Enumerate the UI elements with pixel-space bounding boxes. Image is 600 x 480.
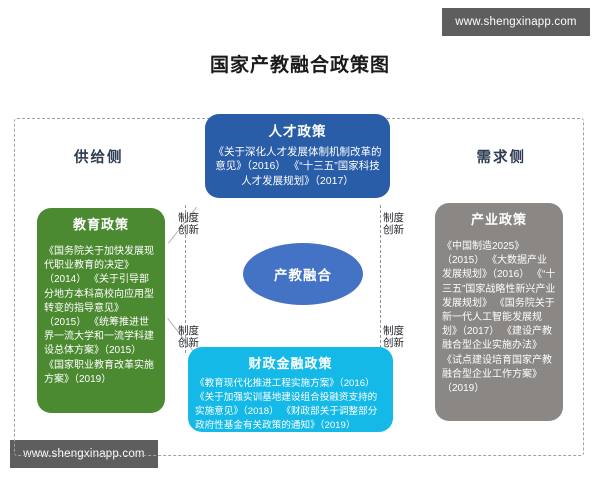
- watermark-top-right: www.shengxinapp.com: [442, 8, 590, 36]
- policy-box-finance-title: 财政金融政策: [195, 353, 386, 372]
- innovation-label-line2: 创新: [178, 224, 199, 236]
- policy-box-talent-title: 人才政策: [212, 120, 383, 140]
- supply-side-label: 供给侧: [74, 146, 124, 167]
- policy-box-education[interactable]: 教育政策 《国务院关于加快发展现代职业教育的决定》（2014） 《关于引导部分地…: [37, 208, 165, 413]
- innovation-label-top-right: 制度 创新: [383, 212, 404, 237]
- policy-box-industry-title: 产业政策: [442, 209, 556, 228]
- policy-box-finance[interactable]: 财政金融政策 《教育现代化推进工程实施方案》（2016） 《关于加强实训基地建设…: [188, 347, 393, 432]
- policy-item: 《国家职业教育改革实施方案》（2019）: [44, 360, 154, 385]
- innovation-label-line2: 创新: [178, 337, 199, 349]
- innovation-label-line1: 制度: [383, 325, 404, 337]
- page-title: 国家产教融合政策图: [0, 50, 600, 77]
- innovation-label-top-left: 制度 创新: [178, 212, 199, 237]
- policy-box-talent[interactable]: 人才政策 《关于深化人才发展体制机制改革的意见》（2016） 《“十三五”国家科…: [205, 114, 390, 198]
- innovation-label-bottom-right: 制度 创新: [383, 325, 404, 350]
- policy-box-industry[interactable]: 产业政策 《中国制造2025》（2015） 《大数据产业发展规划》（2016） …: [435, 203, 563, 421]
- innovation-label-line2: 创新: [383, 224, 404, 236]
- policy-box-finance-items: 《教育现代化推进工程实施方案》（2016） 《关于加强实训基地建设组合投融资支持…: [195, 377, 386, 432]
- innovation-label-line2: 创新: [383, 337, 404, 349]
- innovation-label-line1: 制度: [178, 212, 199, 224]
- innovation-label-line1: 制度: [178, 325, 199, 337]
- innovation-label-line1: 制度: [383, 212, 404, 224]
- policy-item: 《教育现代化推进工程实施方案》（2016）: [195, 378, 375, 389]
- policy-box-education-items: 《国务院关于加快发展现代职业教育的决定》（2014） 《关于引导部分地方本科高校…: [44, 245, 158, 387]
- center-node-integration[interactable]: 产教融合: [243, 243, 363, 305]
- policy-box-education-title: 教育政策: [44, 214, 158, 233]
- dashed-guide-right: [380, 205, 381, 353]
- policy-box-talent-items: 《关于深化人才发展体制机制改革的意见》（2016） 《“十三五”国家科技人才发展…: [212, 145, 383, 188]
- policy-diagram-canvas: www.shengxinapp.com www.shengxinapp.com …: [0, 0, 600, 480]
- center-node-label: 产教融合: [274, 264, 332, 284]
- demand-side-label: 需求侧: [477, 146, 527, 167]
- policy-box-industry-items: 《中国制造2025》（2015） 《大数据产业发展规划》（2016） 《“十三五…: [442, 240, 556, 396]
- innovation-label-bottom-left: 制度 创新: [178, 325, 199, 350]
